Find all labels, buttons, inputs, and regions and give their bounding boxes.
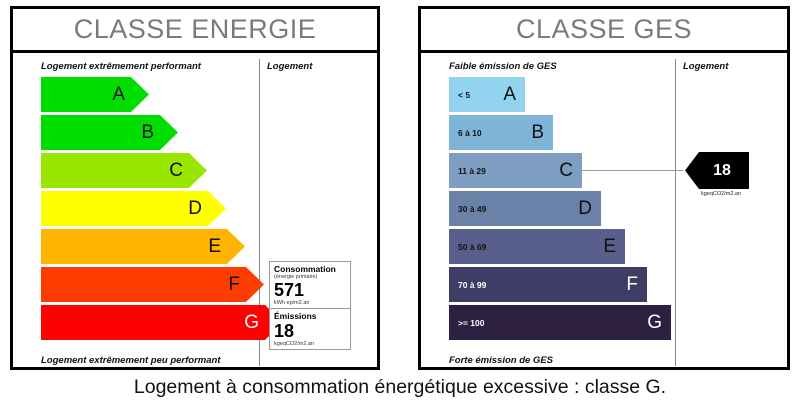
ges-bar-row: < 5A — [449, 77, 671, 112]
energy-bar-a: A — [41, 77, 149, 112]
emissions-unit: kgeqCO2/m2.an — [274, 341, 346, 348]
energy-bar-row: G — [41, 305, 283, 340]
ges-bar-e: 50 à 69E — [449, 229, 625, 264]
consumption-box: Consommation (énergie primaire) 571 kWh … — [269, 261, 351, 350]
ges-bar-letter: A — [503, 85, 516, 104]
ges-bar-row: 70 à 99F — [449, 267, 671, 302]
ges-result-badge-wrapper: 18 kgeqCO2/m2.an — [683, 152, 755, 197]
ges-bar-b: 6 à 10B — [449, 115, 553, 150]
ges-connector-line — [582, 170, 683, 171]
consumption-value: 571 — [274, 281, 346, 300]
ges-hint-bottom: Forte émission de GES — [449, 355, 553, 366]
energy-bar-row: E — [41, 229, 283, 264]
ges-bar-scale: < 5A6 à 10B11 à 29C30 à 49D50 à 69E70 à … — [449, 77, 671, 343]
summary-caption: Logement à consommation énergétique exce… — [0, 376, 800, 399]
ges-hint-top: Faible émission de GES — [449, 61, 557, 72]
energy-bar-letter: E — [208, 237, 221, 256]
ges-bar-range: 50 à 69 — [458, 242, 486, 252]
energy-class-panel: CLASSE ENERGIE Logement extrêmement perf… — [10, 6, 380, 370]
energy-panel-title-bar: CLASSE ENERGIE — [13, 9, 377, 53]
energy-panel-body: Logement extrêmement performant Logement… — [13, 53, 377, 370]
ges-badge-unit: kgeqCO2/m2.an — [687, 191, 755, 197]
ges-bar-a: < 5A — [449, 77, 525, 112]
ges-bar-row: 50 à 69E — [449, 229, 671, 264]
ges-bar-row: 6 à 10B — [449, 115, 671, 150]
energy-bar-row: B — [41, 115, 283, 150]
consumption-section: Consommation (énergie primaire) 571 kWh … — [270, 262, 350, 308]
energy-bar-letter: A — [112, 85, 125, 104]
consumption-title: Consommation — [274, 265, 346, 274]
energy-bar-row: C — [41, 153, 283, 188]
ges-column-label: Logement — [683, 61, 728, 72]
ges-bar-range: 70 à 99 — [458, 280, 486, 290]
energy-bar-row: D — [41, 191, 283, 226]
energy-bar-scale: ABCDEFG — [41, 77, 283, 343]
energy-bar-row: F — [41, 267, 283, 302]
ges-column-divider — [675, 59, 676, 366]
ges-bar-range: 30 à 49 — [458, 204, 486, 214]
ges-panel-body: Faible émission de GES Forte émission de… — [421, 53, 787, 370]
ges-bar-letter: G — [647, 313, 662, 332]
energy-bar-letter: F — [228, 275, 240, 294]
ges-bar-range: < 5 — [458, 90, 470, 100]
energy-hint-top: Logement extrêmement performant — [41, 61, 201, 72]
energy-panel-title: CLASSE ENERGIE — [74, 14, 317, 45]
consumption-unit: kWh ep/m2.an — [274, 300, 346, 307]
energy-bar-letter: D — [188, 199, 202, 218]
ges-bar-letter: D — [578, 199, 592, 218]
energy-bar-letter: G — [244, 313, 259, 332]
ges-bar-d: 30 à 49D — [449, 191, 601, 226]
emissions-section: Émissions 18 kgeqCO2/m2.an — [270, 308, 350, 349]
energy-bar-letter: C — [169, 161, 183, 180]
ges-bar-letter: B — [531, 123, 544, 142]
ges-bar-letter: E — [603, 237, 616, 256]
ges-bar-range: >= 100 — [458, 318, 484, 328]
energy-bar-b: B — [41, 115, 178, 150]
ges-panel-title: CLASSE GES — [516, 14, 692, 45]
dpe-diagram: CLASSE ENERGIE Logement extrêmement perf… — [0, 0, 800, 415]
ges-bar-row: 30 à 49D — [449, 191, 671, 226]
ges-bar-c: 11 à 29C — [449, 153, 582, 188]
ges-bar-range: 6 à 10 — [458, 128, 482, 138]
energy-bar-row: A — [41, 77, 283, 112]
ges-bar-row: >= 100G — [449, 305, 671, 340]
ges-bar-g: >= 100G — [449, 305, 671, 340]
energy-bar-d: D — [41, 191, 226, 226]
energy-bar-g: G — [41, 305, 283, 340]
ges-bar-letter: F — [626, 275, 638, 294]
ges-class-panel: CLASSE GES Faible émission de GES Forte … — [418, 6, 790, 370]
energy-hint-bottom: Logement extrêmement peu performant — [41, 355, 220, 366]
ges-badge-value: 18 — [703, 163, 731, 179]
energy-bar-c: C — [41, 153, 207, 188]
energy-bar-e: E — [41, 229, 245, 264]
ges-bar-letter: C — [559, 161, 573, 180]
energy-column-label: Logement — [267, 61, 312, 72]
ges-panel-title-bar: CLASSE GES — [421, 9, 787, 53]
emissions-value: 18 — [274, 322, 346, 341]
ges-bar-f: 70 à 99F — [449, 267, 647, 302]
energy-bar-f: F — [41, 267, 264, 302]
ges-bar-range: 11 à 29 — [458, 166, 486, 176]
ges-result-badge: 18 — [685, 152, 749, 189]
energy-bar-letter: B — [141, 123, 154, 142]
